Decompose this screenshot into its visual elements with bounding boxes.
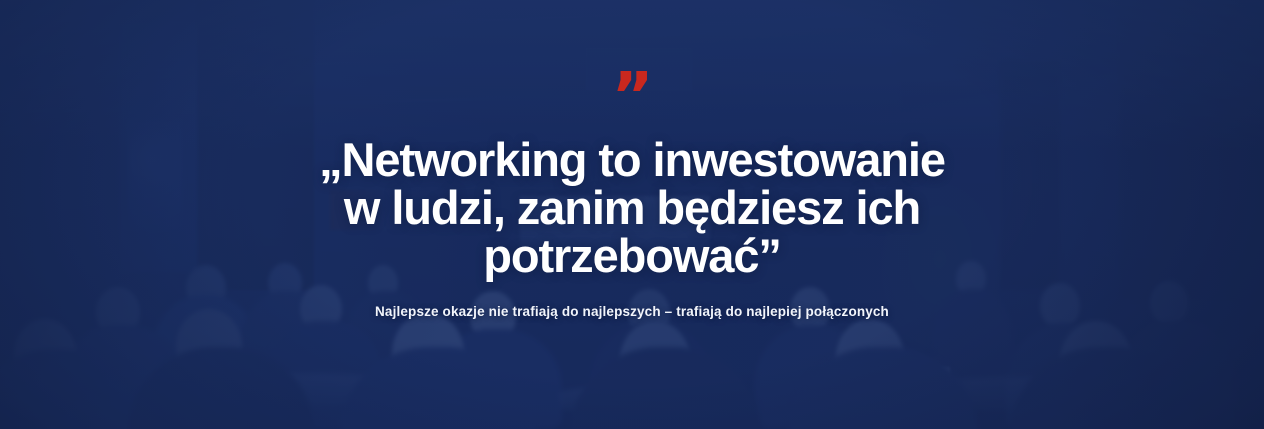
hero-banner: ” „Networking to inwestowanie w ludzi, z… xyxy=(0,0,1264,429)
hero-subtitle: Najlepsze okazje nie trafiają do najleps… xyxy=(375,304,889,319)
hero-headline: „Networking to inwestowanie w ludzi, zan… xyxy=(312,136,952,280)
quote-mark-icon: ” xyxy=(611,78,652,118)
hero-content: ” „Networking to inwestowanie w ludzi, z… xyxy=(0,0,1264,429)
